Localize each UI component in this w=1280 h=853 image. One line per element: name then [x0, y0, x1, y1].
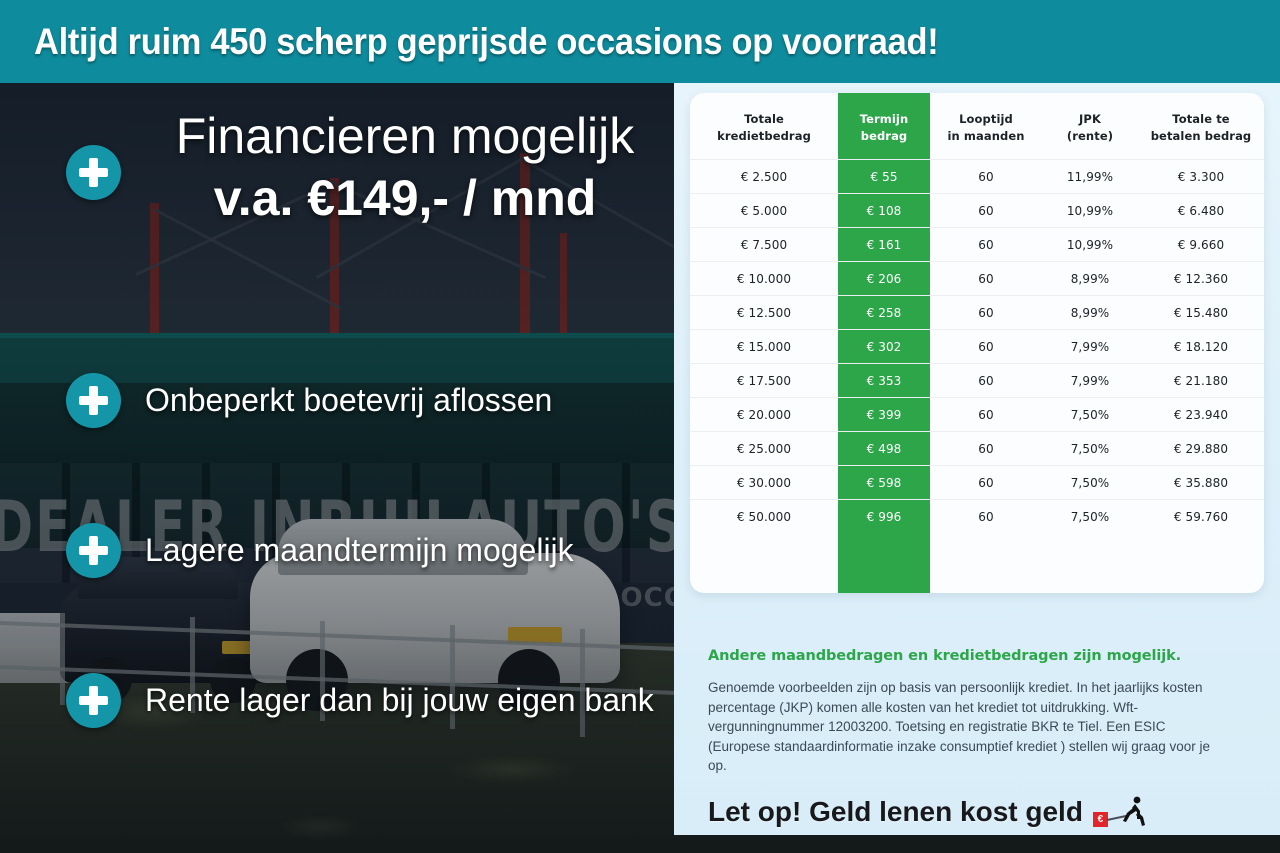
feature-item-3: Rente lager dan bij jouw eigen bank: [66, 673, 654, 728]
promo-banner-text: Altijd ruim 450 scherp geprijsde occasio…: [34, 21, 938, 63]
table-cell: 10,99%: [1042, 228, 1138, 262]
finance-panel: Totale kredietbedrag Termijn bedrag Loop…: [674, 83, 1280, 835]
plus-icon: [66, 673, 121, 728]
table-cell: € 21.180: [1138, 364, 1264, 398]
table-cell: 60: [930, 228, 1042, 262]
table-cell: € 302: [838, 330, 930, 364]
table-cell: € 12.500: [690, 296, 838, 330]
disclaimer-body: Genoemde voorbeelden zijn op basis van p…: [708, 678, 1228, 776]
table-cell: 60: [930, 432, 1042, 466]
table-cell: € 15.000: [690, 330, 838, 364]
table-cell: € 20.000: [690, 398, 838, 432]
ball-and-chain-icon: €: [1093, 795, 1149, 829]
table-cell: 7,99%: [1042, 364, 1138, 398]
col-header-apr: JPK (rente): [1042, 93, 1138, 160]
table-cell: 7,50%: [1042, 500, 1138, 534]
table-row: € 2.500€ 556011,99%€ 3.300: [690, 160, 1264, 194]
table-cell: € 59.760: [1138, 500, 1264, 534]
table-cell: 60: [930, 194, 1042, 228]
col-header-total-payable: Totale te betalen bedrag: [1138, 93, 1264, 160]
table-cell: € 12.360: [1138, 262, 1264, 296]
table-cell: € 498: [838, 432, 930, 466]
feature-label: Onbeperkt boetevrij aflossen: [145, 382, 552, 419]
table-cell: € 35.880: [1138, 466, 1264, 500]
table-cell: 7,99%: [1042, 330, 1138, 364]
money-block-icon: €: [1093, 812, 1108, 827]
table-cell: 60: [930, 398, 1042, 432]
table-cell: 60: [930, 262, 1042, 296]
table-row: € 20.000€ 399607,50%€ 23.940: [690, 398, 1264, 432]
table-cell: € 18.120: [1138, 330, 1264, 364]
table-cell: € 15.480: [1138, 296, 1264, 330]
table-cell: € 598: [838, 466, 930, 500]
table-cell: € 3.300: [1138, 160, 1264, 194]
table-cell: € 17.500: [690, 364, 838, 398]
table-cell: 60: [930, 500, 1042, 534]
table-cell: 8,99%: [1042, 296, 1138, 330]
table-header-row: Totale kredietbedrag Termijn bedrag Loop…: [690, 93, 1264, 160]
table-cell: 60: [930, 466, 1042, 500]
table-row: € 30.000€ 598607,50%€ 35.880: [690, 466, 1264, 500]
page-title: Financieren mogelijk v.a. €149,- / mnd: [140, 105, 670, 229]
rates-table: Totale kredietbedrag Termijn bedrag Loop…: [690, 93, 1264, 533]
table-cell: € 996: [838, 500, 930, 534]
table-row: € 25.000€ 498607,50%€ 29.880: [690, 432, 1264, 466]
table-row: € 15.000€ 302607,99%€ 18.120: [690, 330, 1264, 364]
plus-icon: [66, 373, 121, 428]
col-header-duration: Looptijd in maanden: [930, 93, 1042, 160]
table-cell: € 206: [838, 262, 930, 296]
table-cell: 7,50%: [1042, 466, 1138, 500]
table-cell: 60: [930, 330, 1042, 364]
table-row: € 10.000€ 206608,99%€ 12.360: [690, 262, 1264, 296]
table-cell: € 29.880: [1138, 432, 1264, 466]
disclaimer-title: Andere maandbedragen en kredietbedragen …: [708, 648, 1228, 664]
left-content: Financieren mogelijk v.a. €149,- / mnd O…: [0, 83, 690, 853]
table-cell: 60: [930, 296, 1042, 330]
table-row: € 12.500€ 258608,99%€ 15.480: [690, 296, 1264, 330]
legal-warning: Let op! Geld lenen kost geld €: [708, 795, 1248, 829]
table-cell: € 258: [838, 296, 930, 330]
table-cell: € 399: [838, 398, 930, 432]
ad-banner: Altijd ruim 450 scherp geprijsde occasio…: [0, 0, 1280, 853]
table-cell: € 108: [838, 194, 930, 228]
feature-label: Lagere maandtermijn mogelijk: [145, 532, 574, 569]
table-cell: 10,99%: [1042, 194, 1138, 228]
table-cell: € 353: [838, 364, 930, 398]
plus-icon: [66, 145, 121, 200]
feature-item-1: Onbeperkt boetevrij aflossen: [66, 373, 552, 428]
table-row: € 17.500€ 353607,99%€ 21.180: [690, 364, 1264, 398]
table-cell: € 50.000: [690, 500, 838, 534]
promo-banner: Altijd ruim 450 scherp geprijsde occasio…: [0, 0, 1280, 83]
table-cell: 60: [930, 364, 1042, 398]
feature-label: Rente lager dan bij jouw eigen bank: [145, 682, 654, 719]
table-cell: € 30.000: [690, 466, 838, 500]
table-cell: € 7.500: [690, 228, 838, 262]
table-cell: € 161: [838, 228, 930, 262]
headline-bullet: [66, 145, 121, 200]
rates-table-body: € 2.500€ 556011,99%€ 3.300€ 5.000€ 10860…: [690, 160, 1264, 534]
table-cell: 11,99%: [1042, 160, 1138, 194]
table-cell: 7,50%: [1042, 432, 1138, 466]
table-cell: € 5.000: [690, 194, 838, 228]
table-cell: € 55: [838, 160, 930, 194]
headline-line-1: Financieren mogelijk: [140, 105, 670, 167]
disclaimer-block: Andere maandbedragen en kredietbedragen …: [708, 648, 1228, 776]
rates-table-card: Totale kredietbedrag Termijn bedrag Loop…: [690, 93, 1264, 593]
table-cell: € 10.000: [690, 262, 838, 296]
col-header-total-credit: Totale kredietbedrag: [690, 93, 838, 160]
table-cell: € 2.500: [690, 160, 838, 194]
table-cell: € 25.000: [690, 432, 838, 466]
table-cell: 8,99%: [1042, 262, 1138, 296]
headline-line-2: v.a. €149,- / mnd: [140, 167, 670, 229]
table-row: € 5.000€ 1086010,99%€ 6.480: [690, 194, 1264, 228]
table-cell: 60: [930, 160, 1042, 194]
table-cell: 7,50%: [1042, 398, 1138, 432]
col-header-monthly-amount: Termijn bedrag: [838, 93, 930, 160]
plus-icon: [66, 523, 121, 578]
table-row: € 50.000€ 996607,50%€ 59.760: [690, 500, 1264, 534]
table-cell: € 6.480: [1138, 194, 1264, 228]
table-row: € 7.500€ 1616010,99%€ 9.660: [690, 228, 1264, 262]
feature-item-2: Lagere maandtermijn mogelijk: [66, 523, 574, 578]
legal-warning-text: Let op! Geld lenen kost geld: [708, 796, 1083, 828]
table-cell: € 9.660: [1138, 228, 1264, 262]
table-cell: € 23.940: [1138, 398, 1264, 432]
